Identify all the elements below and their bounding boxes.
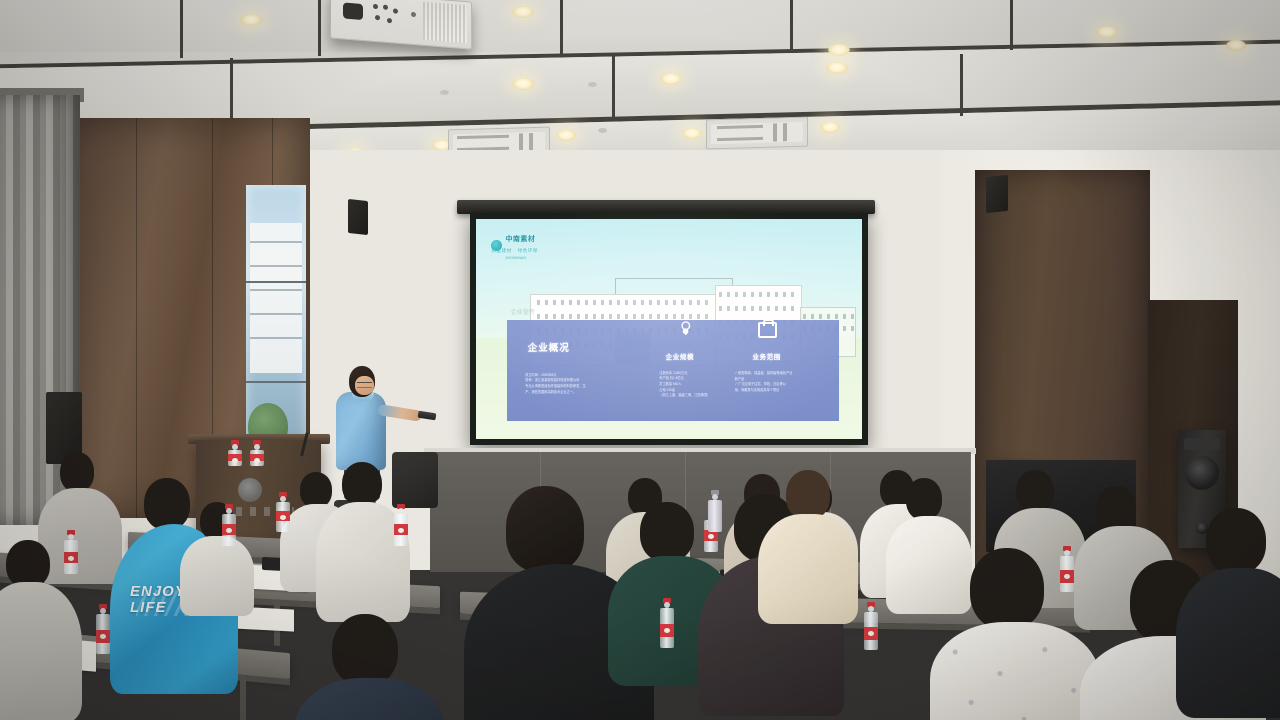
projection-screen-housing [457, 200, 875, 214]
water-bottle[interactable] [1060, 550, 1074, 580]
water-bottle[interactable] [394, 508, 408, 534]
chair[interactable] [392, 452, 438, 508]
slide-logo-tagline: 新型建材 · 绿色环保 [491, 248, 538, 254]
water-bottle[interactable] [660, 602, 674, 636]
projection-screen: 中南素材 ZHONGNAN 新型建材 · 绿色环保 企业宣传 企业概况 成立时间… [476, 219, 862, 439]
wall-speaker-upper-right [986, 175, 1008, 213]
slide-logo-name-en: ZHONGNAN [505, 256, 526, 260]
slide-text-line: （浙江上虞、福建三明、江西鹰潭） [659, 393, 710, 399]
ceiling-downlight [820, 122, 840, 133]
slide-watermark: 企业宣传 [511, 307, 535, 316]
slide-column-title: 企业规模 [666, 351, 694, 361]
ceiling-downlight [826, 62, 848, 74]
location-pin-icon-outline: ⚲ [680, 321, 692, 337]
ceiling-downlight [1226, 40, 1246, 51]
ceiling-downlight [512, 78, 534, 90]
ceiling-downlight [660, 73, 682, 85]
projector-lens [343, 2, 363, 20]
ceiling-downlight [828, 44, 850, 56]
briefcase-handle-icon [763, 319, 774, 326]
slide-text-line: 用、商服类与民用各类单个项目 [735, 388, 793, 394]
slide-column-business: 业务范围 ✓ 新型墙体、保温板、装饰板等绿色产业 新产品 ✓ 广泛应用于住宅、学… [733, 320, 833, 421]
screenshot-root: 中南素材 ZHONGNAN 新型建材 · 绿色环保 企业宣传 企业概况 成立时间… [0, 0, 1280, 720]
water-bottle[interactable] [222, 508, 236, 534]
eyeglasses-icon [357, 382, 372, 388]
company-emblem [238, 478, 262, 502]
presenter-shirt [336, 392, 386, 470]
slide-content-panel: 企业概况 成立时间：2000年6月 简称：浙江某某新型建材科技有限公司 专业从事… [507, 320, 839, 421]
ceiling-downlight [240, 14, 262, 26]
wall-speaker-upper-left [348, 199, 368, 235]
slide-column-title: 业务范围 [753, 351, 781, 361]
smoke-detector-icon [598, 128, 607, 133]
water-bottle[interactable] [250, 444, 264, 458]
ceiling-downlight [512, 6, 534, 18]
water-bottle[interactable] [864, 606, 878, 638]
slide-logo-name-cn: 中南素材 [505, 236, 535, 243]
ac-cassette-vent [706, 117, 808, 150]
slide-text-line: 产、销售的国家高新技术企业之一。 [525, 390, 586, 396]
smoke-detector-icon [588, 82, 597, 87]
slide-column-title: 企业概况 [528, 340, 570, 354]
ceiling-downlight [682, 128, 702, 139]
water-bottle[interactable] [276, 496, 290, 520]
exterior-window [246, 185, 306, 475]
thermos-flask[interactable] [708, 494, 722, 520]
slide-logo: 中南素材 ZHONGNAN [491, 228, 535, 264]
water-bottle[interactable] [228, 444, 242, 458]
slide-column-overview: 企业概况 成立时间：2000年6月 简称：浙江某某新型建材科技有限公司 专业从事… [520, 320, 646, 421]
water-bottle[interactable] [96, 608, 110, 642]
smoke-detector-icon [440, 90, 449, 95]
water-bottle[interactable] [64, 534, 78, 562]
ceiling-downlight [556, 130, 576, 141]
slide-column-scale: ● ⚲ 企业规模 注册资本 3,980万元 年产值 约1.8亿元 员工数量 66… [653, 320, 733, 421]
ceiling-downlight [1096, 26, 1118, 38]
